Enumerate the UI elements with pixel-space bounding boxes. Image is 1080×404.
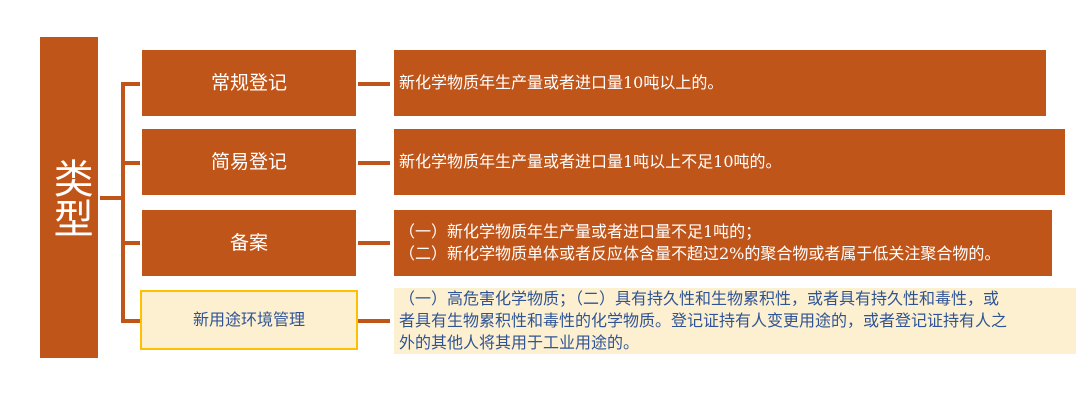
connector-trunk bbox=[121, 82, 125, 323]
description-line: 新化学物质年生产量或者进口量10吨以上的。 bbox=[399, 72, 1042, 94]
connector-label-desc-2 bbox=[356, 161, 390, 165]
connector-label-desc-3 bbox=[356, 241, 390, 245]
branch-label-new-use-environmental-management[interactable]: 新用途环境管理 bbox=[140, 290, 358, 350]
branch-description-new-use-environmental-management: （一）高危害化学物质；（二）具有持久性和生物累积性，或者具有持久性和毒性，或 者… bbox=[392, 286, 1078, 356]
branch-label-text: 新用途环境管理 bbox=[193, 310, 305, 331]
connector-branch-2 bbox=[121, 161, 142, 165]
description-line: （一）新化学物质年生产量或者进口量不足1吨的； bbox=[399, 221, 1048, 243]
branch-description-regular-registration: 新化学物质年生产量或者进口量10吨以上的。 bbox=[392, 48, 1048, 118]
branch-label-text: 简易登记 bbox=[211, 150, 287, 175]
description-line: （二）新化学物质单体或者反应体含量不超过2%的聚合物或者属于低关注聚合物的。 bbox=[399, 243, 1048, 265]
description-line: 外的其他人将其用于工业用途的。 bbox=[399, 332, 1072, 354]
description-line: 者具有生物累积性和毒性的化学物质。登记证持有人变更用途的，或者登记证持有人之 bbox=[399, 310, 1072, 332]
connector-label-desc-1 bbox=[356, 82, 390, 86]
connector-branch-1 bbox=[121, 82, 142, 86]
root-node-label: 类型 bbox=[47, 158, 90, 238]
connector-label-desc-4 bbox=[356, 319, 390, 323]
branch-description-filing: （一）新化学物质年生产量或者进口量不足1吨的； （二）新化学物质单体或者反应体含… bbox=[392, 208, 1054, 278]
connector-branch-3 bbox=[121, 241, 142, 245]
branch-label-filing[interactable]: 备案 bbox=[140, 208, 358, 278]
root-node-type: 类型 bbox=[38, 35, 100, 360]
description-line: （一）高危害化学物质；（二）具有持久性和生物累积性，或者具有持久性和毒性，或 bbox=[399, 288, 1072, 310]
branch-label-simplified-registration[interactable]: 简易登记 bbox=[140, 127, 358, 197]
connector-branch-4 bbox=[121, 319, 142, 323]
branch-label-text: 备案 bbox=[230, 231, 268, 256]
branch-description-simplified-registration: 新化学物质年生产量或者进口量1吨以上不足10吨的。 bbox=[392, 127, 1067, 197]
description-line: 新化学物质年生产量或者进口量1吨以上不足10吨的。 bbox=[399, 151, 1061, 173]
branch-label-regular-registration[interactable]: 常规登记 bbox=[140, 48, 358, 118]
diagram-canvas: 类型 常规登记 简易登记 备案 新用途环境管理 新化学物质年生产量或者进口量10… bbox=[0, 0, 1080, 404]
branch-label-text: 常规登记 bbox=[211, 71, 287, 96]
